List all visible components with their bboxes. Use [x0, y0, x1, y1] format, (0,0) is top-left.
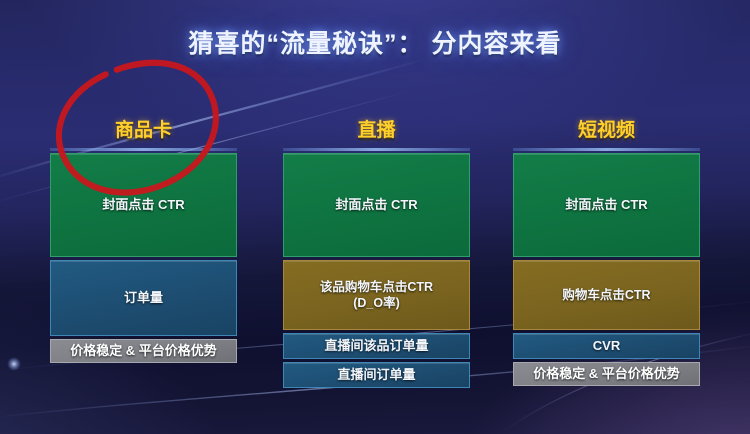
- footer-block[interactable]: 价格稳定 & 平台价格优势: [50, 339, 237, 363]
- metric-block[interactable]: 封面点击 CTR: [513, 153, 700, 257]
- metric-block[interactable]: CVR: [513, 333, 700, 359]
- metric-label: 封面点击 CTR: [329, 196, 423, 213]
- column-livestream: 直播 封面点击 CTR 该品购物车点击CTR (D_O率) 直播间该品订单量 直…: [283, 108, 470, 391]
- metric-label: 封面点击 CTR: [559, 196, 653, 213]
- metric-block[interactable]: 订单量: [50, 260, 237, 336]
- metric-block[interactable]: 该品购物车点击CTR (D_O率): [283, 260, 470, 330]
- metric-block[interactable]: 直播间订单量: [283, 362, 470, 388]
- metric-label: 直播间该品订单量: [318, 337, 434, 354]
- column-blocks: 封面点击 CTR 订单量 价格稳定 & 平台价格优势: [50, 148, 237, 363]
- slide-canvas: 猜喜的“流量秘诀”： 分内容来看 商品卡 封面点击 CTR 订单量 价格稳定 &…: [0, 0, 750, 434]
- footer-label: 价格稳定 & 平台价格优势: [527, 365, 686, 382]
- column-short-video: 短视频 封面点击 CTR 购物车点击CTR CVR 价格稳定 & 平台价格优势: [513, 108, 700, 389]
- footer-block[interactable]: 价格稳定 & 平台价格优势: [513, 362, 700, 386]
- metric-block[interactable]: 购物车点击CTR: [513, 260, 700, 330]
- column-header: 直播: [283, 108, 470, 148]
- slide-title: 猜喜的“流量秘诀”： 分内容来看: [0, 24, 750, 60]
- footer-label: 价格稳定 & 平台价格优势: [64, 342, 223, 359]
- column-blocks: 封面点击 CTR 该品购物车点击CTR (D_O率) 直播间该品订单量 直播间订…: [283, 148, 470, 388]
- block-top-highlight: [50, 148, 237, 151]
- metric-sublabel: (D_O率): [320, 295, 433, 312]
- metric-label: 封面点击 CTR: [96, 196, 190, 213]
- block-top-highlight: [283, 148, 470, 151]
- column-blocks: 封面点击 CTR 购物车点击CTR CVR 价格稳定 & 平台价格优势: [513, 148, 700, 386]
- metric-block[interactable]: 封面点击 CTR: [50, 153, 237, 257]
- column-header: 商品卡: [50, 108, 237, 148]
- metric-block[interactable]: 封面点击 CTR: [283, 153, 470, 257]
- block-top-highlight: [513, 148, 700, 151]
- metric-label: 直播间订单量: [331, 366, 421, 383]
- metric-block[interactable]: 直播间该品订单量: [283, 333, 470, 359]
- metric-label: 订单量: [118, 289, 169, 306]
- metric-label: 购物车点击CTR: [556, 287, 656, 304]
- column-product-card: 商品卡 封面点击 CTR 订单量 价格稳定 & 平台价格优势: [50, 108, 237, 366]
- metric-label: 该品购物车点击CTR: [320, 280, 433, 294]
- column-header: 短视频: [513, 108, 700, 148]
- metric-label: CVR: [587, 337, 626, 354]
